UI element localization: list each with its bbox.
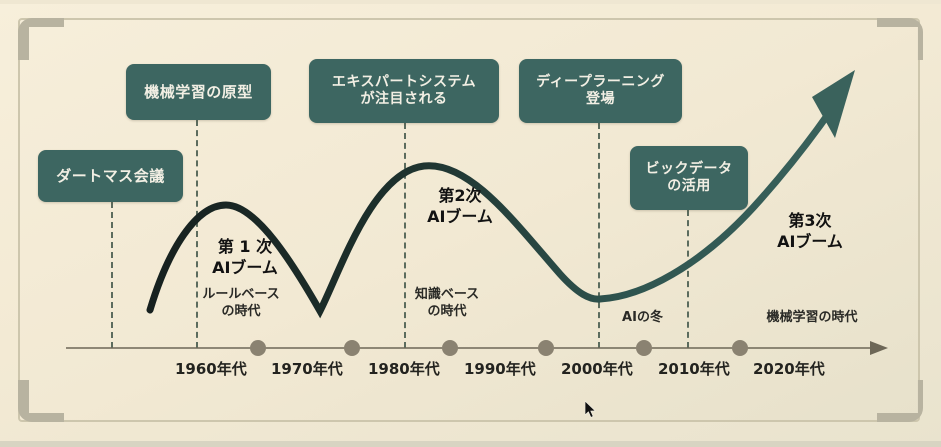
decade-label-1990年代: 1990年代 [464, 358, 536, 379]
decade-label-1980年代: 1980年代 [368, 358, 440, 379]
decade-label-2000年代: 2000年代 [561, 358, 633, 379]
decade-label-2020年代: 2020年代 [753, 358, 825, 379]
label-boom-2: 第2次 AIブーム [405, 186, 515, 228]
era-label-rule-based: ルールベース の時代 [181, 287, 301, 321]
callout-dartmouth: ダートマス会議 [38, 150, 183, 202]
callout-ml-prototype: 機械学習の原型 [126, 64, 271, 120]
decade-label-1960年代: 1960年代 [175, 358, 247, 379]
callout-expert-system: エキスパートシステム が注目される [309, 59, 499, 123]
era-label-knowledge-based: 知識ベース の時代 [392, 287, 502, 321]
slide-canvas: ダートマス会議機械学習の原型エキスパートシステム が注目されるディープラーニング… [0, 0, 941, 447]
era-label-ml-era: 機械学習の時代 [742, 310, 882, 327]
label-boom-3: 第3次 AIブーム [755, 211, 865, 253]
connector-big-data-line [687, 210, 689, 348]
callout-deep-learning: ディープラーニング 登場 [519, 59, 682, 123]
decade-label-1970年代: 1970年代 [271, 358, 343, 379]
video-bottom-edge [0, 441, 941, 447]
decade-label-2010年代: 2010年代 [658, 358, 730, 379]
mouse-cursor [585, 401, 597, 419]
label-boom-1: 第 1 次 AIブーム [190, 237, 300, 279]
callout-big-data: ビックデータ の活用 [630, 146, 748, 210]
connector-dartmouth-line [111, 202, 113, 348]
video-top-edge [0, 0, 941, 4]
era-label-ai-winter: AIの冬 [600, 310, 685, 327]
